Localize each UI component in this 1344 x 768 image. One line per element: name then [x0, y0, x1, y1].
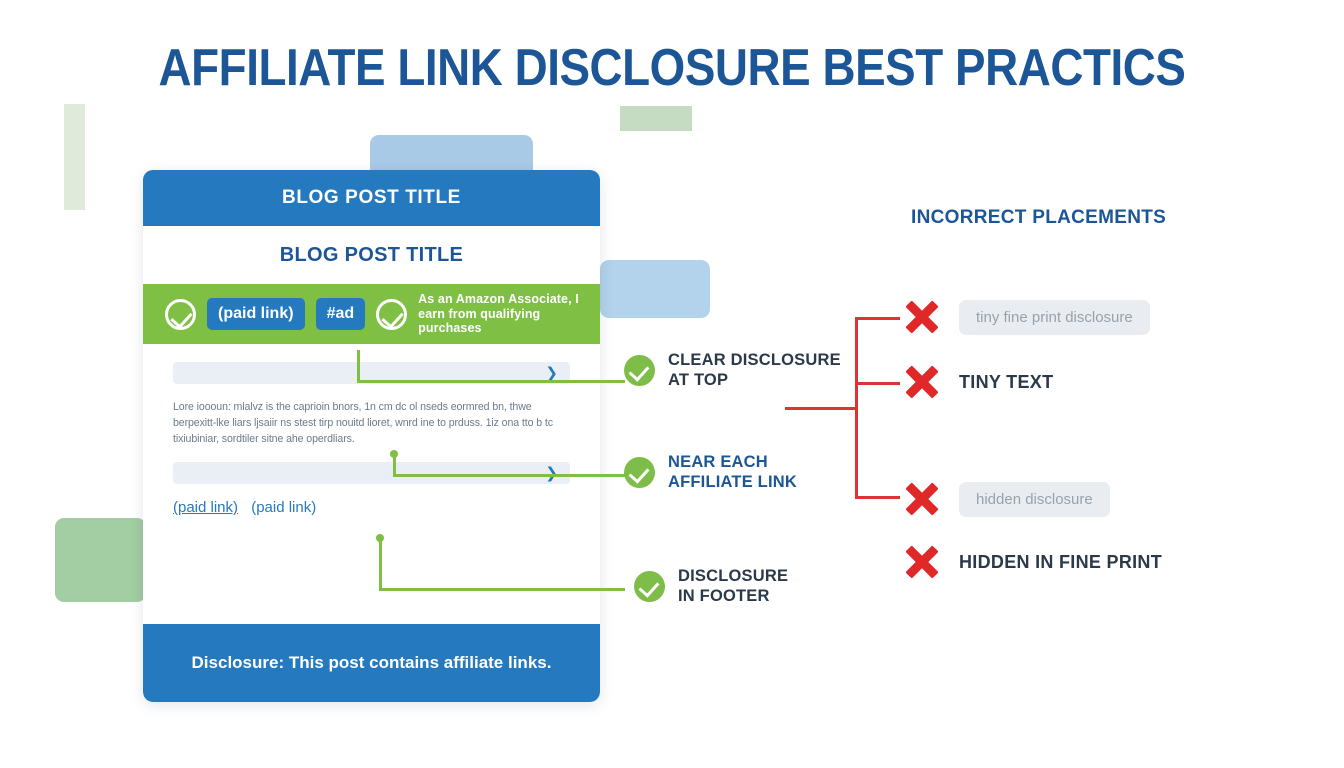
- check-circle-icon: [376, 299, 407, 330]
- badge-ad[interactable]: #ad: [316, 298, 366, 330]
- mockup-header-title: BLOG POST TITLE: [282, 187, 461, 209]
- callout-near-each-affiliate-link: NEAR EACH AFFILIATE LINK: [624, 452, 797, 492]
- check-circle-icon: [634, 571, 665, 602]
- check-circle-icon: [624, 457, 655, 488]
- x-mark-icon: [903, 480, 941, 518]
- incorrect-item-label: TINY TEXT: [959, 372, 1053, 393]
- callout-label: NEAR EACH AFFILIATE LINK: [668, 452, 797, 492]
- paid-link-2[interactable]: (paid link): [251, 499, 316, 516]
- callout-disclosure-in-footer: DISCLOSURE IN FOOTER: [634, 566, 788, 606]
- connector-line-bottom-horizontal: [379, 588, 625, 591]
- mockup-body: ❯ Lore ioooun: mlalvz is the caprioin bn…: [143, 344, 600, 551]
- bracket-branch-2: [855, 382, 900, 385]
- check-circle-icon: [624, 355, 655, 386]
- incorrect-item-tiny-fine-print: tiny fine print disclosure: [903, 298, 1150, 336]
- inline-paid-link-row: (paid link) (paid link): [173, 499, 570, 516]
- amazon-associate-note: As an Amazon Associate, I earn from qual…: [418, 292, 590, 336]
- decor-blue-rectangle: [600, 260, 710, 318]
- mockup-subtitle-text: BLOG POST TITLE: [280, 244, 463, 267]
- mockup-header-bar: BLOG POST TITLE: [143, 170, 600, 226]
- footer-disclosure-text: Disclosure: This post contains affiliate…: [192, 652, 552, 675]
- infographic-canvas: AFFILIATE LINK DISCLOSURE BEST PRACTICS …: [0, 0, 1344, 768]
- callout-label: DISCLOSURE IN FOOTER: [678, 566, 788, 606]
- decor-green-bar: [64, 104, 85, 210]
- badge-paid-link[interactable]: (paid link): [207, 298, 305, 330]
- page-title: AFFILIATE LINK DISCLOSURE BEST PRACTICS: [81, 38, 1264, 98]
- connector-line-mid-horizontal: [393, 474, 625, 477]
- mockup-subtitle: BLOG POST TITLE: [143, 226, 600, 284]
- connector-line-top-horizontal: [357, 380, 625, 383]
- decor-green-rectangle: [620, 106, 692, 131]
- incorrect-item-label: HIDDEN IN FINE PRINT: [959, 552, 1162, 573]
- incorrect-item-hidden-disclosure: hidden disclosure: [903, 480, 1110, 518]
- decor-green-square: [55, 518, 146, 602]
- incorrect-placements-heading: INCORRECT PLACEMENTS: [911, 207, 1166, 229]
- bracket-branch-1: [855, 317, 900, 320]
- x-mark-icon: [903, 363, 941, 401]
- incorrect-item-pill: tiny fine print disclosure: [959, 300, 1150, 335]
- callout-clear-disclosure-at-top: CLEAR DISCLOSURE AT TOP: [624, 350, 841, 390]
- incorrect-item-tiny-text: TINY TEXT: [903, 363, 1053, 401]
- bracket-spine: [855, 317, 858, 499]
- footer-disclosure-bar: Disclosure: This post contains affiliate…: [143, 624, 600, 702]
- x-mark-icon: [903, 298, 941, 336]
- x-mark-icon: [903, 543, 941, 581]
- callout-label: CLEAR DISCLOSURE AT TOP: [668, 350, 841, 390]
- top-disclosure-bar: (paid link) #ad As an Amazon Associate, …: [143, 284, 600, 344]
- body-paragraph: Lore ioooun: mlalvz is the caprioin bnor…: [173, 399, 570, 447]
- connector-line-top-vertical: [357, 350, 360, 382]
- blog-post-mockup: BLOG POST TITLE BLOG POST TITLE (paid li…: [143, 170, 600, 702]
- check-circle-icon: [165, 299, 196, 330]
- incorrect-item-pill: hidden disclosure: [959, 482, 1110, 517]
- body-paragraph-text: Lore ioooun: mlalvz is the caprioin bnor…: [173, 401, 553, 445]
- connector-line-bottom-vertical: [379, 538, 382, 590]
- incorrect-item-hidden-in-fine-print: HIDDEN IN FINE PRINT: [903, 543, 1162, 581]
- connector-line-mid-vertical: [393, 454, 396, 476]
- bracket-branch-3: [855, 496, 900, 499]
- bracket-trunk: [785, 407, 857, 410]
- paid-link-1[interactable]: (paid link): [173, 499, 238, 516]
